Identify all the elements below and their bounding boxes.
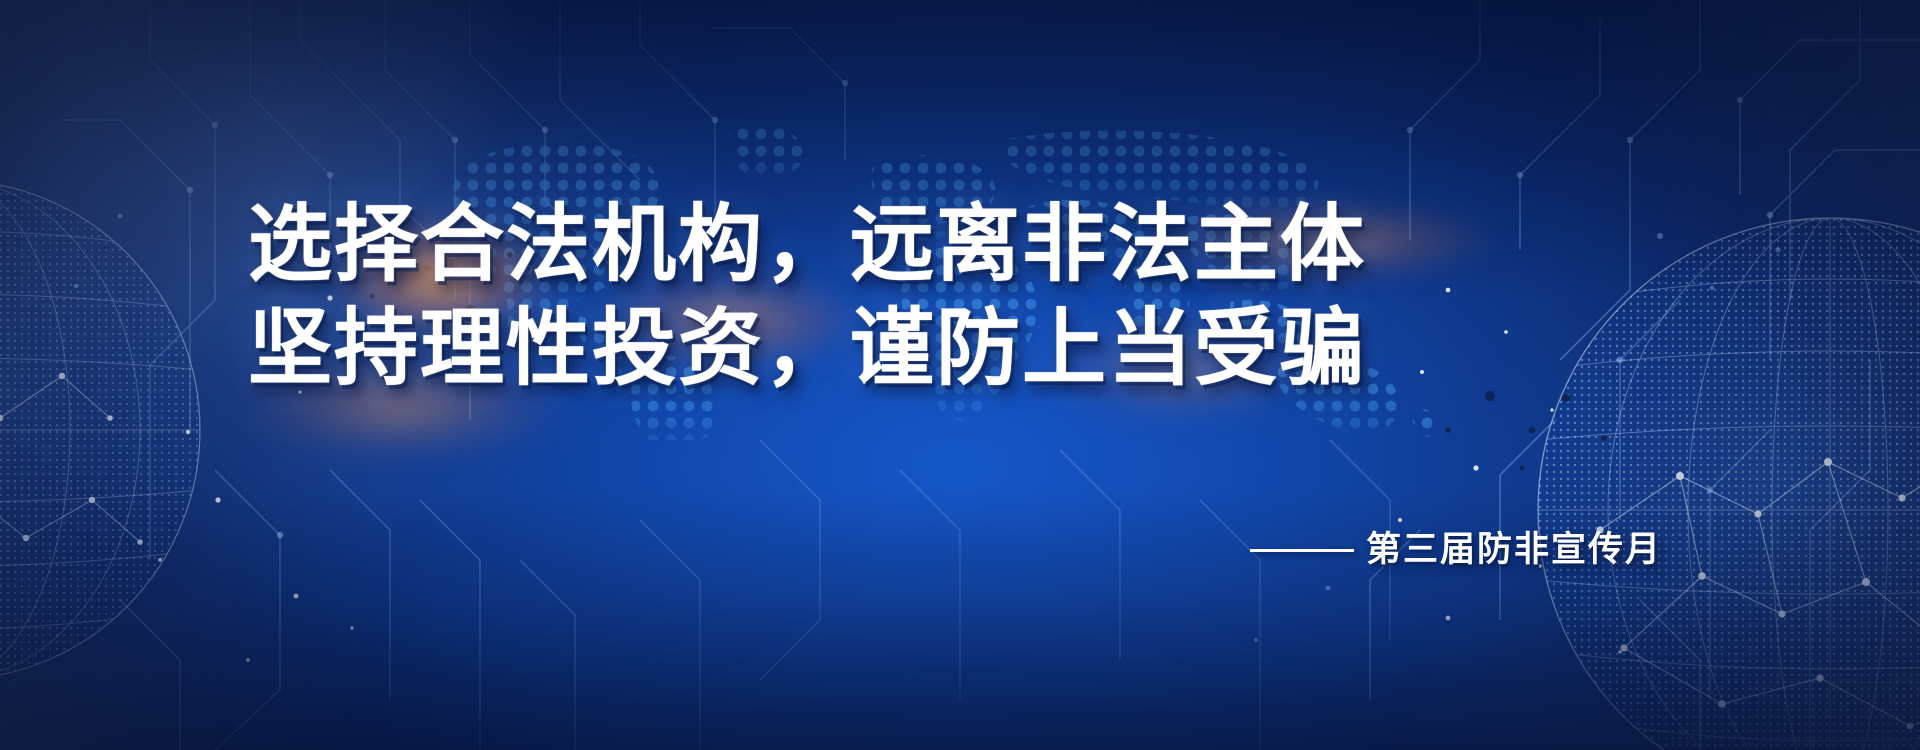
headline-block: 选择合法机构，远离非法主体 坚持理性投资，谨防上当受骗 <box>248 192 1368 400</box>
headline-line-1: 选择合法机构，远离非法主体 <box>248 192 1368 296</box>
attribution-text: 第三届防非宣传月 <box>1366 528 1662 572</box>
attribution-block: 第三届防非宣传月 <box>1250 528 1662 572</box>
promo-banner: 选择合法机构，远离非法主体 坚持理性投资，谨防上当受骗 第三届防非宣传月 <box>0 0 1920 750</box>
attribution-rule <box>1250 549 1354 552</box>
headline-line-2: 坚持理性投资，谨防上当受骗 <box>248 296 1368 400</box>
